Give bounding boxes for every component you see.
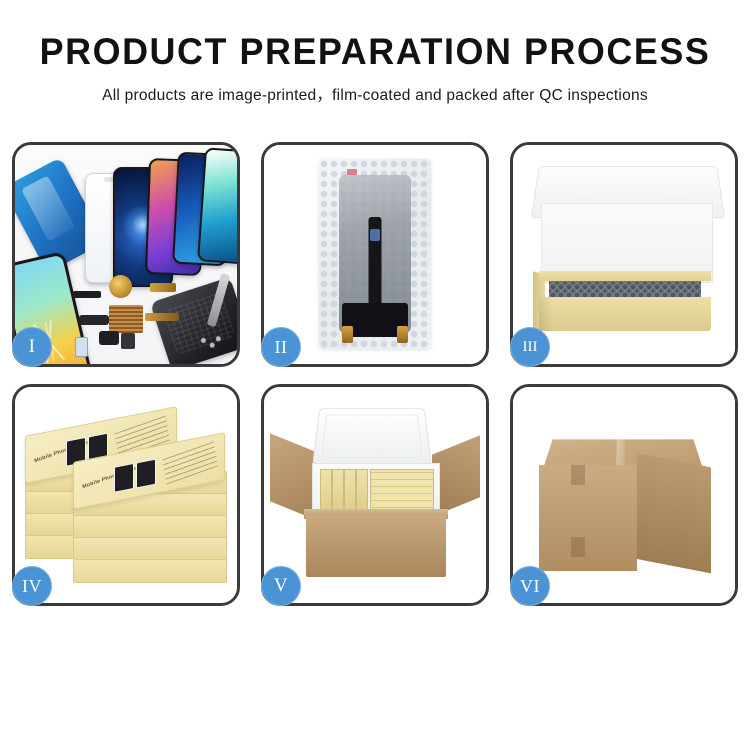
page-subtitle: All products are image-printed，film-coat… [0,83,750,105]
lcd-tab-right-icon [397,326,408,343]
battery-connector-icon [121,333,135,349]
infographic-page: PRODUCT PREPARATION PROCESS All products… [0,0,750,750]
step-badge-1: I [12,327,52,367]
styrofoam-lid-icon [312,408,432,466]
step-panel-5[interactable]: V [261,384,489,606]
stacked-box [73,559,227,583]
yellow-inner-box-icon [539,297,711,331]
carton-handle-tab-icon [571,537,585,557]
screws-icon [199,334,221,350]
qc-sticker-icon [347,169,357,175]
speaker-bar-icon [73,291,101,298]
copper-coil-icon [109,275,132,298]
stacked-box [73,537,227,561]
step-badge-2: II [261,327,301,367]
page-title: PRODUCT PREPARATION PROCESS [11,32,739,72]
carton-side-face-icon [637,453,711,573]
step-badge-6: VI [510,566,550,606]
step-panel-4[interactable]: Mobile Phone Spare Parts Mobile Phone Sp… [12,384,240,606]
carton-handle-tab-icon [571,465,585,485]
step-panel-6[interactable]: VI [510,384,738,606]
copper-mesh-shield-icon [109,305,143,333]
camera-module-icon [79,315,109,325]
step-panel-1[interactable]: I [12,142,240,367]
step-6-image [513,387,735,603]
sim-tray-icon [75,337,88,357]
step-panel-3[interactable]: III [510,142,738,367]
stacked-box [73,515,227,539]
bubble-wrap-bag-icon [319,159,431,349]
step-badge-3: III [510,327,550,367]
carton-body-icon [306,515,446,577]
retail-box-stack-icon: Mobile Phone Spare Parts Mobile Phone Sp… [21,409,237,595]
lcd-tab-left-icon [342,326,353,343]
carton-front-face-icon [539,465,637,571]
ribbon-flex-cable-icon [145,313,179,321]
carton-flap-left-icon [270,433,318,520]
box-artwork-phone-icon [136,459,156,489]
step-panel-2[interactable]: II [261,142,489,367]
packing-tape-icon [629,404,666,430]
box-spec-lines [162,440,218,485]
step-3-image [513,145,735,364]
teal-gradient-display-icon [197,147,237,264]
step-badge-4: IV [12,566,52,606]
header: PRODUCT PREPARATION PROCESS All products… [0,0,750,105]
box-rim-icon [539,271,711,281]
step-badge-5: V [261,566,301,606]
step-5-image [264,387,486,603]
camera-flex-cable-icon [150,283,176,292]
box-artwork-phone-icon [114,463,134,493]
lcd-driver-chip-icon [370,229,380,241]
speaker-module-icon [99,331,119,345]
step-2-image [264,145,486,364]
process-step-grid: I II [12,142,738,682]
step-1-image [15,145,237,364]
step-4-image: Mobile Phone Spare Parts Mobile Phone Sp… [15,387,237,603]
